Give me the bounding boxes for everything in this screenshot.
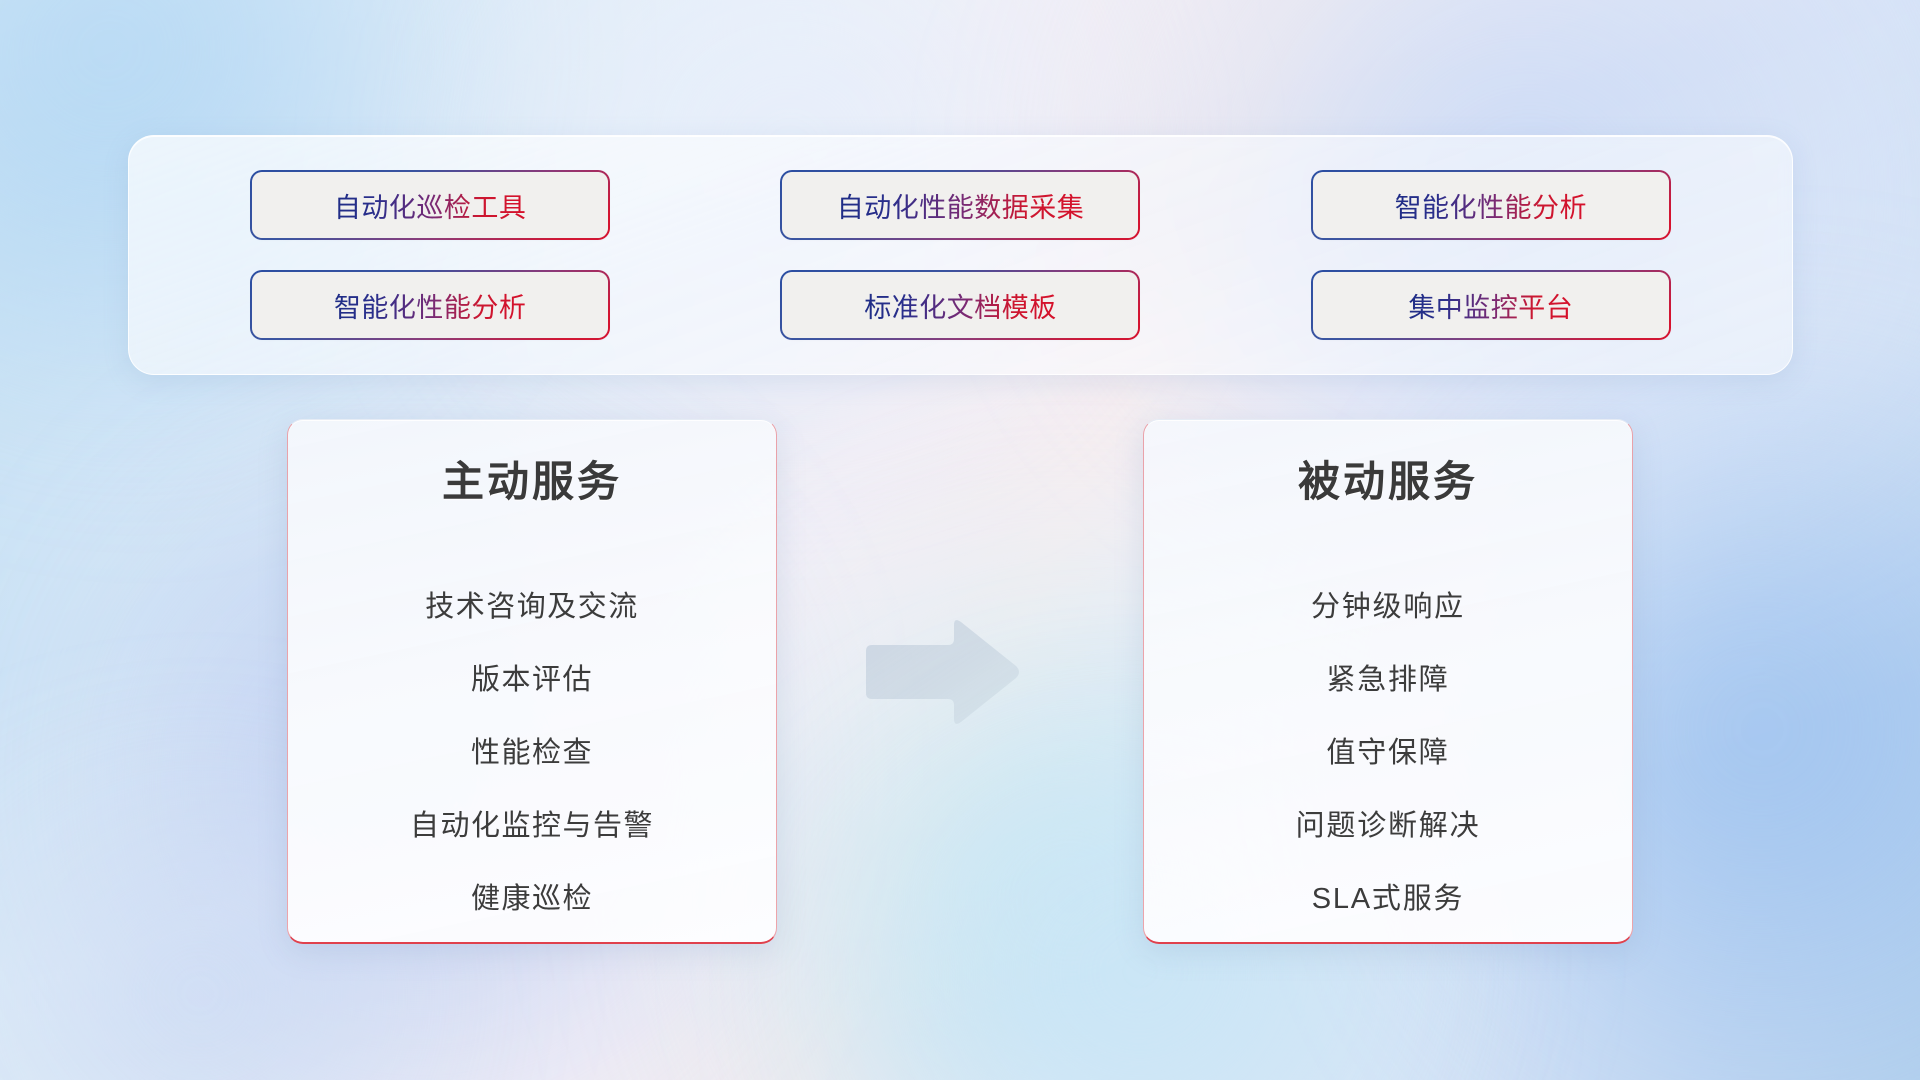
capability-tag-4-surface: 智能化性能分析: [252, 272, 608, 338]
capability-tag-6-label: 集中监控平台: [1408, 286, 1573, 325]
capability-tag-1-surface: 自动化巡检工具: [252, 172, 608, 238]
capability-tag-2[interactable]: 自动化性能数据采集: [782, 172, 1138, 238]
capability-tag-4[interactable]: 智能化性能分析: [252, 272, 608, 338]
reactive-service-card[interactable]: 被动服务 分钟级响应 紧急排障 值守保障 问题诊断解决 SLA式服务: [1143, 419, 1633, 944]
proactive-service-card[interactable]: 主动服务 技术咨询及交流 版本评估 性能检查 自动化监控与告警 健康巡检: [287, 419, 777, 944]
capability-tag-5[interactable]: 标准化文档模板: [782, 272, 1138, 338]
list-item: 问题诊断解决: [1296, 790, 1481, 863]
list-item: 技术咨询及交流: [425, 571, 639, 644]
capability-tag-4-label: 智能化性能分析: [334, 286, 527, 325]
proactive-service-list: 技术咨询及交流 版本评估 性能检查 自动化监控与告警 健康巡检: [318, 571, 746, 936]
capability-tag-2-surface: 自动化性能数据采集: [782, 172, 1138, 238]
list-item: 自动化监控与告警: [410, 790, 654, 863]
capability-tag-3[interactable]: 智能化性能分析: [1313, 172, 1669, 238]
capability-tag-1-label: 自动化巡检工具: [334, 186, 527, 225]
capability-tag-3-label: 智能化性能分析: [1395, 186, 1588, 225]
arrow-right-icon: [862, 617, 1022, 727]
reactive-service-list: 分钟级响应 紧急排障 值守保障 问题诊断解决 SLA式服务: [1174, 571, 1602, 936]
capability-tag-2-label: 自动化性能数据采集: [837, 186, 1085, 225]
list-item: 紧急排障: [1326, 644, 1449, 717]
capability-tag-6-surface: 集中监控平台: [1313, 272, 1669, 338]
list-item: 版本评估: [471, 644, 593, 717]
capability-tag-5-surface: 标准化文档模板: [782, 272, 1138, 338]
proactive-service-title: 主动服务: [442, 456, 622, 509]
reactive-service-title: 被动服务: [1298, 456, 1478, 509]
capability-tag-1[interactable]: 自动化巡检工具: [252, 172, 608, 238]
list-item: 性能检查: [471, 717, 593, 790]
list-item: 值守保障: [1326, 717, 1449, 790]
list-item: SLA式服务: [1312, 863, 1465, 936]
list-item: 分钟级响应: [1311, 571, 1465, 644]
capability-tag-6[interactable]: 集中监控平台: [1313, 272, 1669, 338]
capability-tag-5-label: 标准化文档模板: [864, 286, 1057, 325]
list-item: 健康巡检: [471, 863, 593, 936]
capability-tag-3-surface: 智能化性能分析: [1313, 172, 1669, 238]
capability-tags-panel: 自动化巡检工具 自动化性能数据采集 智能化性能分析 智能化性能分析 标准化文档模…: [128, 135, 1793, 375]
